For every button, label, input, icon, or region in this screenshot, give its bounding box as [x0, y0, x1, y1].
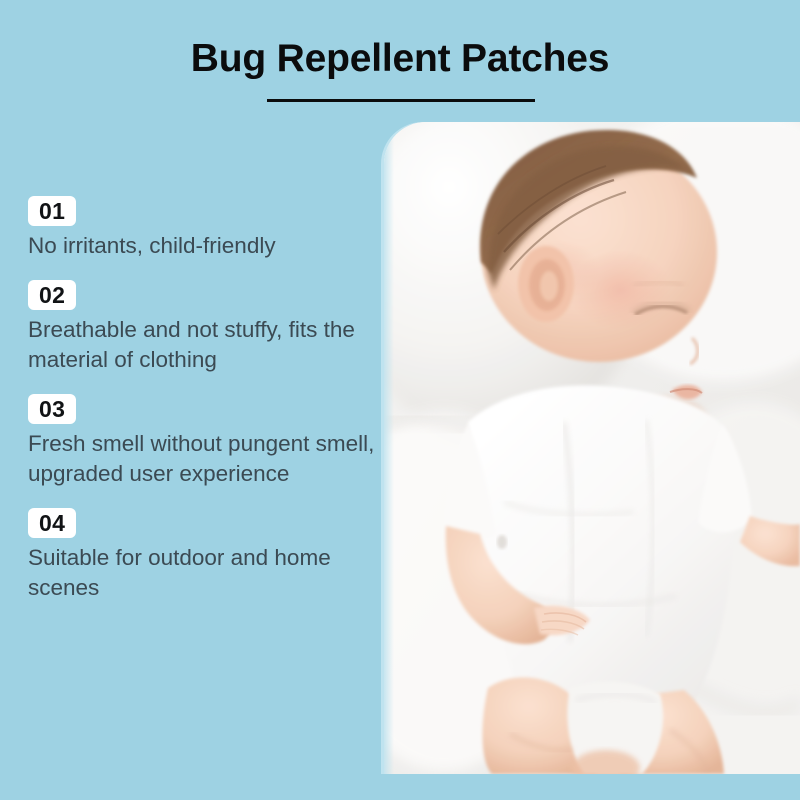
- list-item: 04 Suitable for outdoor and home scenes: [28, 508, 380, 603]
- feature-description: Breathable and not stuffy, fits the mate…: [28, 315, 380, 375]
- feature-number-badge: 04: [28, 508, 76, 538]
- feature-number-badge: 01: [28, 196, 76, 226]
- feature-description: Fresh smell without pungent smell, upgra…: [28, 429, 380, 489]
- list-item: 02 Breathable and not stuffy, fits the m…: [28, 280, 380, 375]
- feature-list: 01 No irritants, child-friendly 02 Breat…: [28, 196, 380, 603]
- product-poster: Bug Repellent Patches 01 No irritants, c…: [0, 0, 800, 800]
- product-photo-panel: [384, 122, 800, 774]
- list-item: 03 Fresh smell without pungent smell, up…: [28, 394, 380, 489]
- feature-description: Suitable for outdoor and home scenes: [28, 543, 380, 603]
- title-underline-divider: [267, 99, 535, 102]
- list-item: 01 No irritants, child-friendly: [28, 196, 380, 261]
- page-title: Bug Repellent Patches: [0, 36, 800, 82]
- feature-number-badge: 02: [28, 280, 76, 310]
- baby-photo: [384, 122, 800, 774]
- feature-number-badge: 03: [28, 394, 76, 424]
- feature-description: No irritants, child-friendly: [28, 231, 380, 261]
- title-block: Bug Repellent Patches: [0, 36, 800, 82]
